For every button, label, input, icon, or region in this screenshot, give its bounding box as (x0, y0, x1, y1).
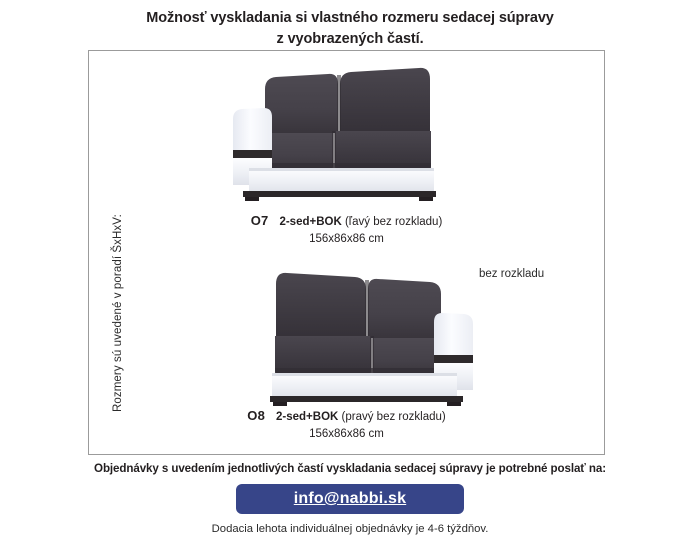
item-dimensions-o7: 156x86x86 cm (88, 231, 605, 248)
sofa-o8-illustration (233, 262, 493, 410)
page-title: Možnosť vyskladania si vlastného rozmeru… (0, 8, 700, 50)
order-instruction-text: Objednávky s uvedením jednotlivých častí… (0, 462, 700, 475)
item-label-o7: O72-sed+BOK (ľavý bez rozkladu) 156x86x8… (88, 212, 605, 248)
page-title-line-2: z vyobrazených častí. (0, 29, 700, 50)
item-label-o8: O82-sed+BOK (pravý bez rozkladu) 156x86x… (88, 407, 605, 443)
delivery-time-text: Dodacia lehota individuálnej objednávky … (0, 523, 700, 535)
dimensions-order-note: Rozmery sú uvedené v poradí ŠxHxV: (112, 142, 132, 412)
item-model-o8: 2-sed+BOK (276, 411, 338, 423)
page-title-line-1: Možnosť vyskladania si vlastného rozmeru… (0, 8, 700, 29)
item-code-o8: O8 (247, 408, 265, 423)
item-variant-o8: (pravý bez rozkladu) (342, 411, 446, 423)
sofa-o7-illustration (213, 57, 473, 205)
email-contact-button[interactable]: info@nabbi.sk (236, 484, 464, 514)
item-model-o7: 2-sed+BOK (279, 216, 341, 228)
item-dimensions-o8: 156x86x86 cm (88, 426, 605, 443)
item-code-o7: O7 (251, 213, 269, 228)
item-variant-o7: (ľavý bez rozkladu) (345, 216, 442, 228)
